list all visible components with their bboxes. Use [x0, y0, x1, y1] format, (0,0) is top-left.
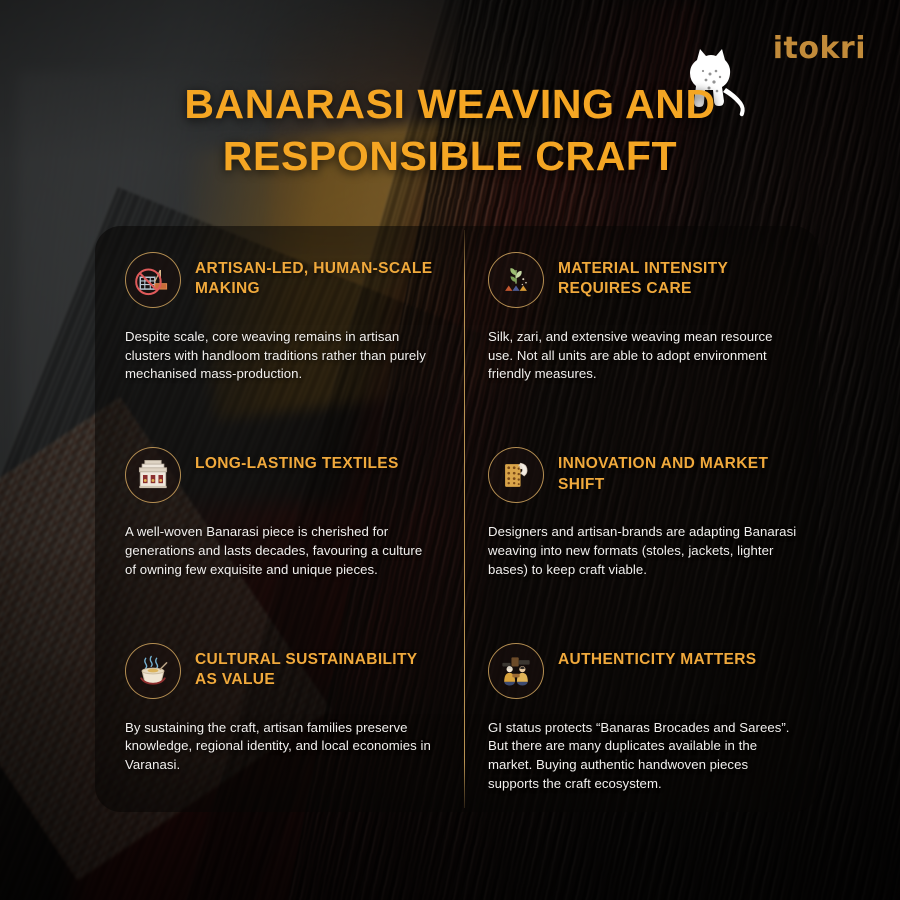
page-title-line-2: RESPONSIBLE CRAFT [110, 130, 790, 182]
card-artisan-led: ARTISAN-LED, HUMAN-SCALE MAKING Despite … [95, 226, 464, 421]
card-header: LONG-LASTING TEXTILES [125, 445, 434, 503]
card-body: Designers and artisan-brands are adaptin… [488, 523, 797, 579]
card-title: CULTURAL SUSTAINABILITY AS VALUE [195, 641, 434, 691]
card-title: AUTHENTICITY MATTERS [558, 641, 756, 670]
no-machine-icon [125, 252, 181, 308]
two-weavers-loom-icon [488, 643, 544, 699]
steaming-pot-icon [125, 643, 181, 699]
card-header: ARTISAN-LED, HUMAN-SCALE MAKING [125, 250, 434, 308]
card-title: INNOVATION AND MARKET SHIFT [558, 445, 797, 495]
card-body: Silk, zari, and extensive weaving mean r… [488, 328, 797, 384]
page-title: BANARASI WEAVING AND RESPONSIBLE CRAFT [0, 78, 900, 183]
card-title: LONG-LASTING TEXTILES [195, 445, 399, 474]
card-body: Despite scale, core weaving remains in a… [125, 328, 434, 384]
card-header: INNOVATION AND MARKET SHIFT [488, 445, 797, 503]
card-material-intensity: MATERIAL INTENSITY REQUIRES CARE Silk, z… [464, 226, 819, 421]
content-panel: ARTISAN-LED, HUMAN-SCALE MAKING Despite … [95, 226, 819, 812]
brand-name: itokri [773, 34, 866, 64]
card-body: A well-woven Banarasi piece is cherished… [125, 523, 434, 579]
card-body: By sustaining the craft, artisan familie… [125, 719, 434, 775]
card-body: GI status protects “Banaras Brocades and… [488, 719, 797, 794]
card-cultural-sustainability: CULTURAL SUSTAINABILITY AS VALUE By sust… [95, 617, 464, 812]
sprout-plant-icon [488, 252, 544, 308]
card-header: MATERIAL INTENSITY REQUIRES CARE [488, 250, 797, 308]
brocade-swatch-icon [488, 447, 544, 503]
page-title-line-1: BANARASI WEAVING AND [110, 78, 790, 130]
card-header: AUTHENTICITY MATTERS [488, 641, 797, 699]
card-long-lasting-textiles: LONG-LASTING TEXTILES A well-woven Banar… [95, 421, 464, 616]
card-title: MATERIAL INTENSITY REQUIRES CARE [558, 250, 797, 300]
card-innovation-market-shift: INNOVATION AND MARKET SHIFT Designers an… [464, 421, 819, 616]
card-authenticity-matters: AUTHENTICITY MATTERS GI status protects … [464, 617, 819, 812]
heritage-building-icon [125, 447, 181, 503]
infographic-poster: itokri BANARASI WEAVING AND RESPONSIBLE … [0, 0, 900, 900]
cards-grid: ARTISAN-LED, HUMAN-SCALE MAKING Despite … [95, 226, 819, 812]
card-header: CULTURAL SUSTAINABILITY AS VALUE [125, 641, 434, 699]
card-title: ARTISAN-LED, HUMAN-SCALE MAKING [195, 250, 434, 300]
